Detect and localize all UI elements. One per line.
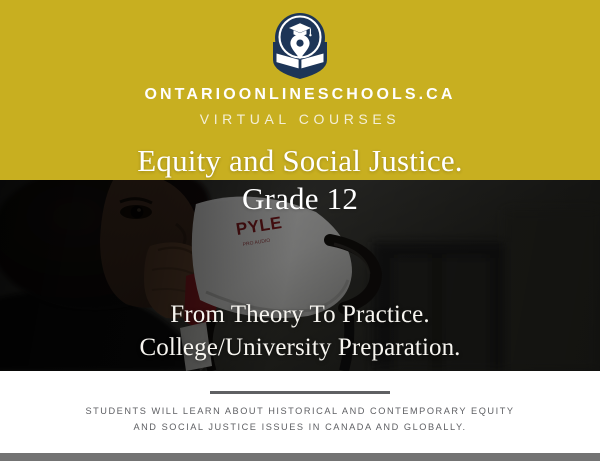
brand-name: ONTARIOONLINESCHOOLS.CA bbox=[0, 86, 600, 104]
person-with-megaphone-photo: PYLE PRO AUDIO bbox=[0, 180, 600, 371]
caption-line-1: STUDENTS WILL LEARN ABOUT HISTORICAL AND… bbox=[18, 404, 582, 420]
graduation-cap-book-shield-logo-icon bbox=[267, 8, 333, 80]
caption-line-2: AND SOCIAL JUSTICE ISSUES IN CANADA AND … bbox=[18, 420, 582, 436]
brand-subtitle: VIRTUAL COURSES bbox=[0, 112, 600, 127]
hero-photo: PYLE PRO AUDIO bbox=[0, 180, 600, 371]
logo-container bbox=[0, 8, 600, 80]
course-promo-card: ONTARIOONLINESCHOOLS.CA VIRTUAL COURSES bbox=[0, 0, 600, 461]
divider-rule bbox=[210, 391, 390, 394]
course-description: STUDENTS WILL LEARN ABOUT HISTORICAL AND… bbox=[0, 404, 600, 435]
brand-block: ONTARIOONLINESCHOOLS.CA VIRTUAL COURSES bbox=[0, 86, 600, 127]
bottom-accent-bar bbox=[0, 453, 600, 461]
footer-section: STUDENTS WILL LEARN ABOUT HISTORICAL AND… bbox=[0, 371, 600, 453]
